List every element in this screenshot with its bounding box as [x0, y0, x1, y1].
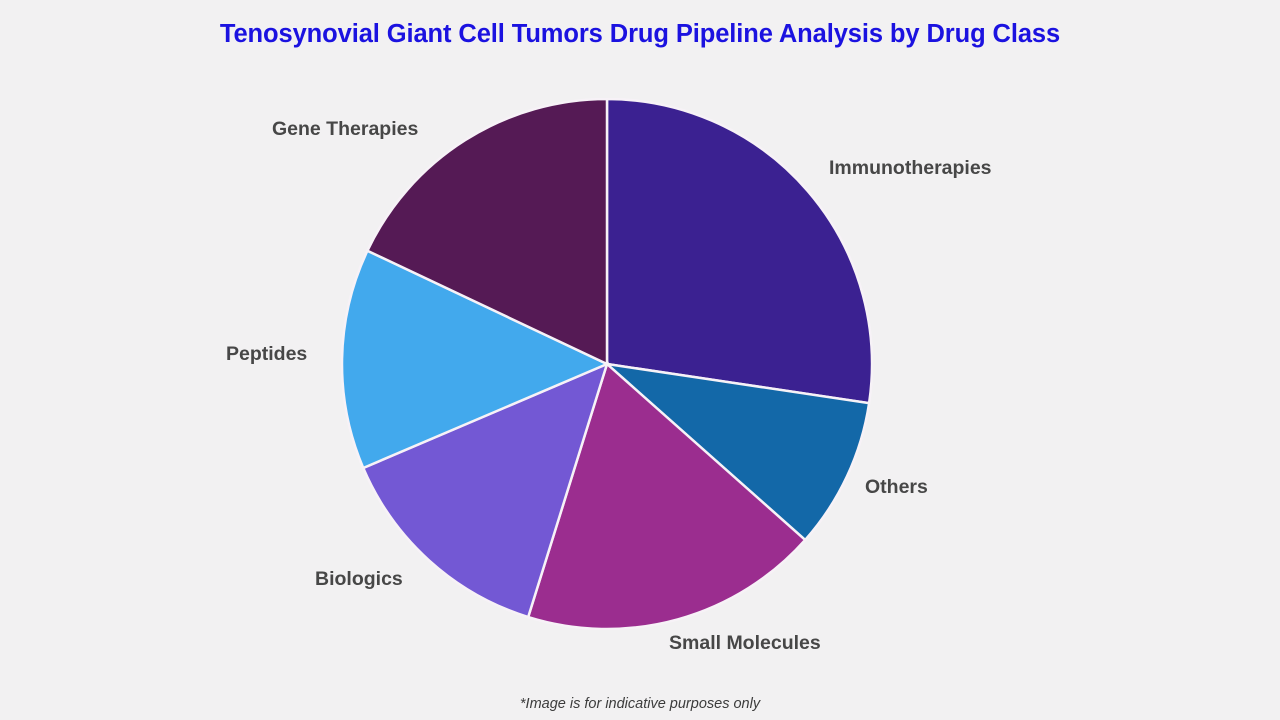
pie-slice-immunotherapies[interactable]: [607, 99, 872, 403]
pie-label-peptides: Peptides: [226, 343, 307, 366]
pie-chart-figure: Tenosynovial Giant Cell Tumors Drug Pipe…: [0, 0, 1280, 720]
pie-chart-area: [341, 98, 873, 630]
pie-label-others: Others: [865, 476, 928, 499]
pie-svg: [341, 98, 873, 630]
pie-label-gene-therapies: Gene Therapies: [272, 118, 418, 141]
pie-label-immunotherapies: Immunotherapies: [829, 157, 992, 180]
footnote: *Image is for indicative purposes only: [0, 696, 1280, 712]
pie-label-biologics: Biologics: [315, 568, 403, 591]
pie-label-small-molecules: Small Molecules: [669, 632, 821, 655]
pie-slice-group: [342, 99, 872, 629]
page-title: Tenosynovial Giant Cell Tumors Drug Pipe…: [0, 20, 1280, 49]
